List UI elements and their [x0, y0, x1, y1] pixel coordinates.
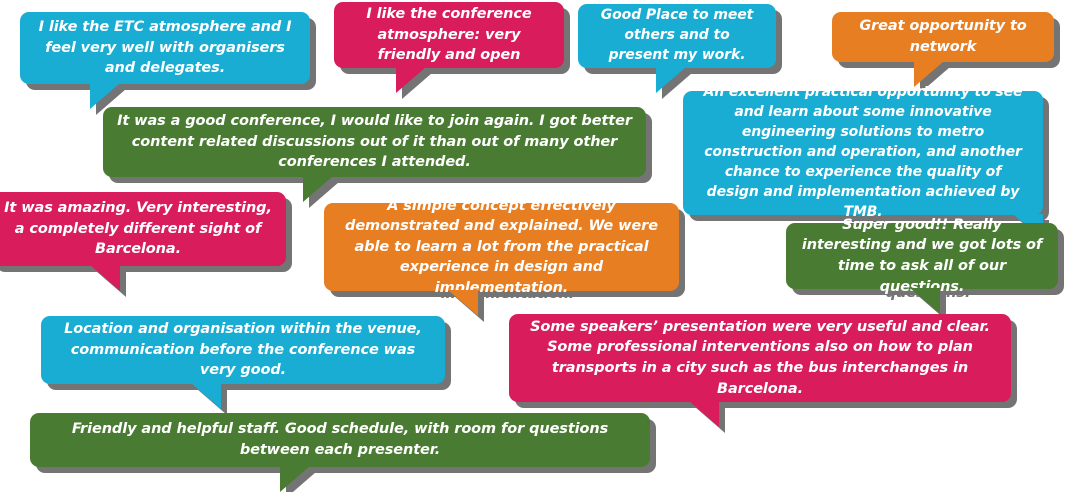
bubble-conference-atmosphere: I like the conference atmosphere: very f…: [334, 2, 564, 68]
bubble-tail: [191, 383, 221, 409]
bubble-some-speakers: Some speakers’ presentation were very us…: [509, 314, 1011, 402]
bubble-tail: [396, 67, 426, 93]
bubble-text: Friendly and helpful staff. Good schedul…: [30, 419, 650, 460]
bubble-super-good: Super good!! Really interesting and we g…: [786, 223, 1058, 289]
bubble-tail: [656, 67, 686, 93]
speech-bubble-collage: I like the ETC atmosphere and I feel ver…: [0, 0, 1078, 476]
bubble-tail: [90, 265, 120, 291]
bubble-good-place: Good Place to meet others and to present…: [578, 4, 776, 68]
bubble-text: Some speakers’ presentation were very us…: [509, 317, 1011, 399]
bubble-tail: [280, 466, 310, 492]
bubble-text: I like the ETC atmosphere and I feel ver…: [20, 17, 310, 79]
bubble-tail: [90, 83, 120, 109]
bubble-text: It was amazing. Very interesting, a comp…: [0, 198, 286, 260]
bubble-tail: [910, 288, 940, 314]
bubble-etc-atmosphere: I like the ETC atmosphere and I feel ver…: [20, 12, 310, 84]
bubble-good-conference: It was a good conference, I would like t…: [103, 107, 646, 177]
bubble-great-opportunity: Great opportunity to network: [832, 12, 1054, 62]
bubble-location-organisation: Location and organisation within the ven…: [41, 316, 445, 384]
bubble-simple-concept: A simple concept effectively demonstrate…: [324, 203, 679, 291]
bubble-tail: [689, 401, 719, 427]
bubble-excellent-practical: An excellent practical opportunity to se…: [683, 91, 1043, 215]
bubble-text: Good Place to meet others and to present…: [578, 6, 776, 66]
bubble-text: An excellent practical opportunity to se…: [683, 83, 1043, 222]
bubble-text: Location and organisation within the ven…: [41, 319, 445, 381]
bubble-was-amazing: It was amazing. Very interesting, a comp…: [0, 192, 286, 266]
bubble-tail: [448, 290, 478, 316]
bubble-text: I like the conference atmosphere: very f…: [334, 4, 564, 66]
bubble-text: It was a good conference, I would like t…: [103, 111, 646, 173]
bubble-text: Super good!! Really interesting and we g…: [786, 215, 1058, 297]
bubble-text: Great opportunity to network: [832, 16, 1054, 57]
bubble-friendly-staff: Friendly and helpful staff. Good schedul…: [30, 413, 650, 467]
bubble-text: A simple concept effectively demonstrate…: [324, 196, 679, 299]
